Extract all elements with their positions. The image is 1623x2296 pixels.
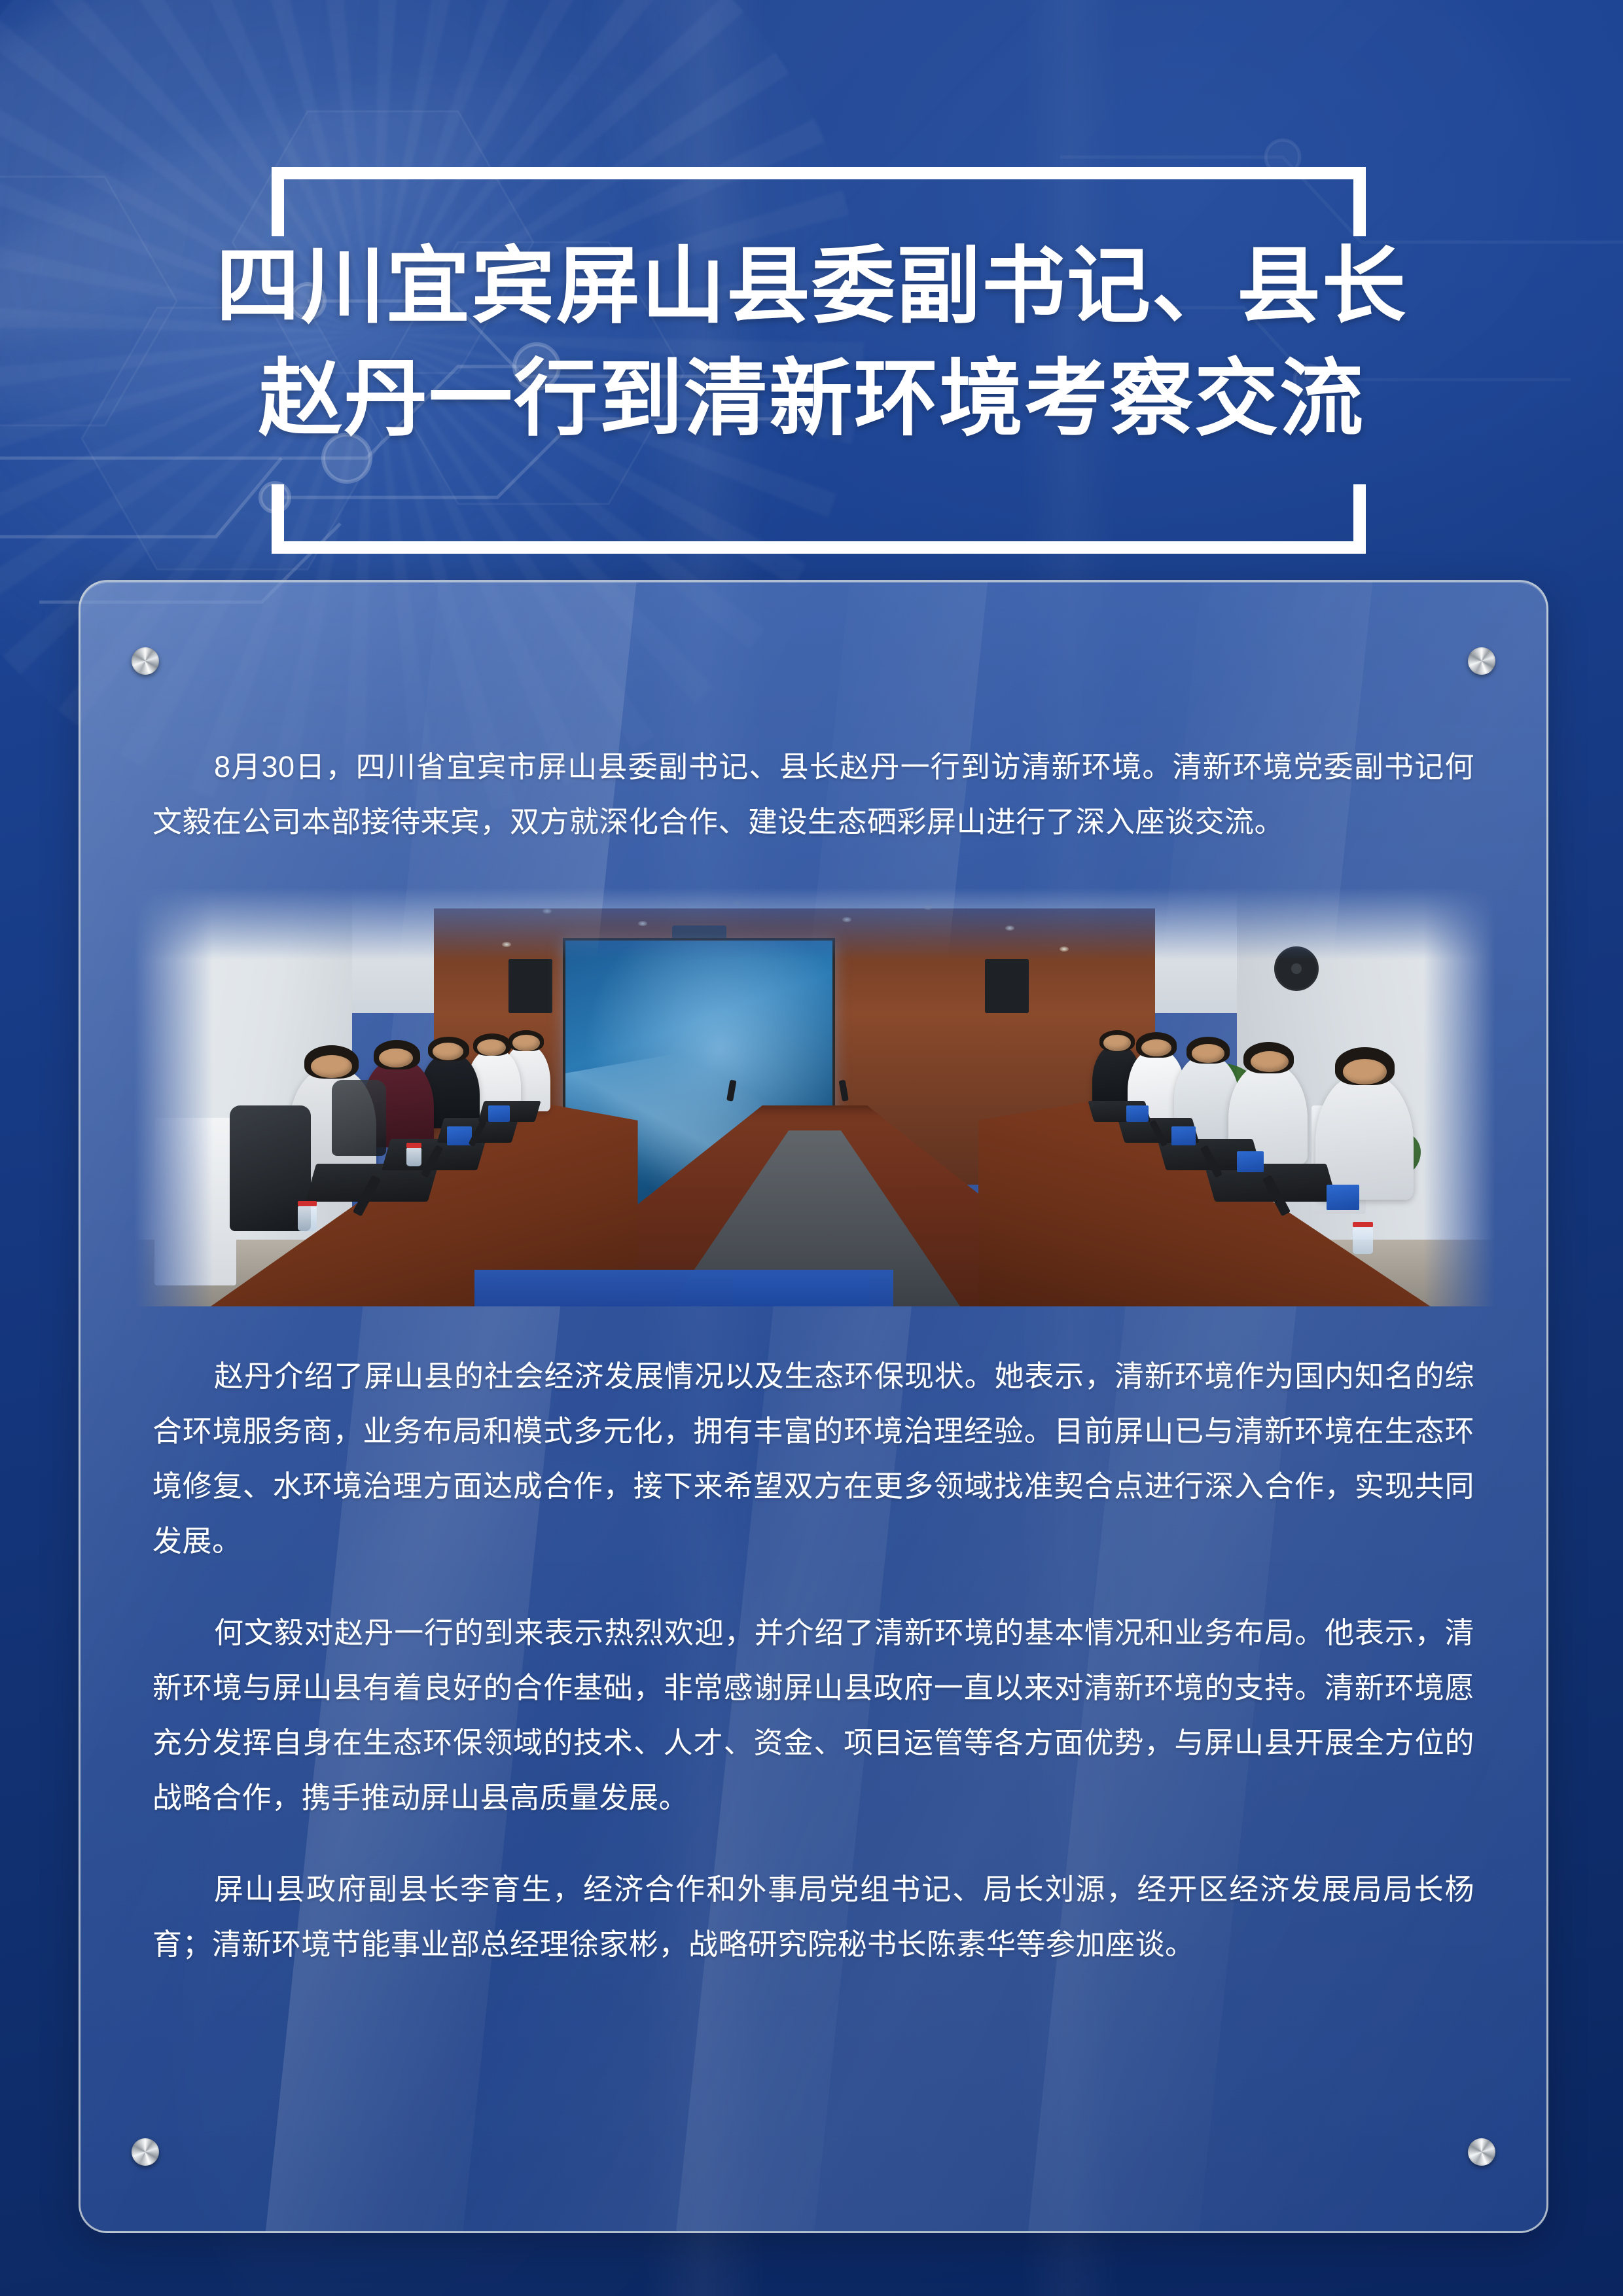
screw-bottom-left-icon	[132, 2138, 159, 2166]
poster-root: 四川宜宾屏山县委副书记、县长 赵丹一行到清新环境考察交流 8月30日，四川省宜宾…	[0, 0, 1623, 2296]
meeting-photo: 热烈欢迎四川宜宾屏山县委副书记、 县长赵丹一行莅临清新环境考察交流 清新环境	[134, 888, 1495, 1306]
article-body: 8月30日，四川省宜宾市屏山县委副书记、县长赵丹一行到访清新环境。清新环境党委副…	[152, 710, 1474, 2001]
title-line-2: 赵丹一行到清新环境考察交流	[0, 343, 1623, 456]
article-paragraph-4: 屏山县政府副县长李育生，经济合作和外事局党组书记、局长刘源，经开区经济发展局局长…	[152, 1862, 1474, 1972]
article-paragraph-2: 赵丹介绍了屏山县的社会经济发展情况以及生态环保现状。她表示，清新环境作为国内知名…	[152, 1349, 1474, 1569]
page-title: 四川宜宾屏山县委副书记、县长 赵丹一行到清新环境考察交流	[0, 230, 1623, 456]
meeting-photo-wrap: 热烈欢迎四川宜宾屏山县委副书记、 县长赵丹一行莅临清新环境考察交流 清新环境	[152, 888, 1474, 1319]
title-bracket-top	[272, 167, 1366, 236]
bracket-top-left-stub	[272, 167, 284, 236]
photo-bottom-notch	[474, 1270, 893, 1306]
bracket-top-right-stub	[1353, 167, 1366, 236]
screw-bottom-right-icon	[1468, 2138, 1495, 2166]
bracket-bottom-left-stub	[272, 484, 284, 554]
screw-top-left-icon	[132, 647, 159, 675]
article-paragraph-1: 8月30日，四川省宜宾市屏山县委副书记、县长赵丹一行到访清新环境。清新环境党委副…	[152, 740, 1474, 850]
article-paragraph-3: 何文毅对赵丹一行的到来表示热烈欢迎，并介绍了清新环境的基本情况和业务布局。他表示…	[152, 1605, 1474, 1825]
title-bracket-bottom	[272, 484, 1366, 554]
bracket-bottom-right-stub	[1353, 484, 1366, 554]
content-card: 8月30日，四川省宜宾市屏山县委副书记、县长赵丹一行到访清新环境。清新环境党委副…	[79, 580, 1548, 2233]
screw-top-right-icon	[1468, 647, 1495, 675]
title-line-1: 四川宜宾屏山县委副书记、县长	[0, 230, 1623, 343]
